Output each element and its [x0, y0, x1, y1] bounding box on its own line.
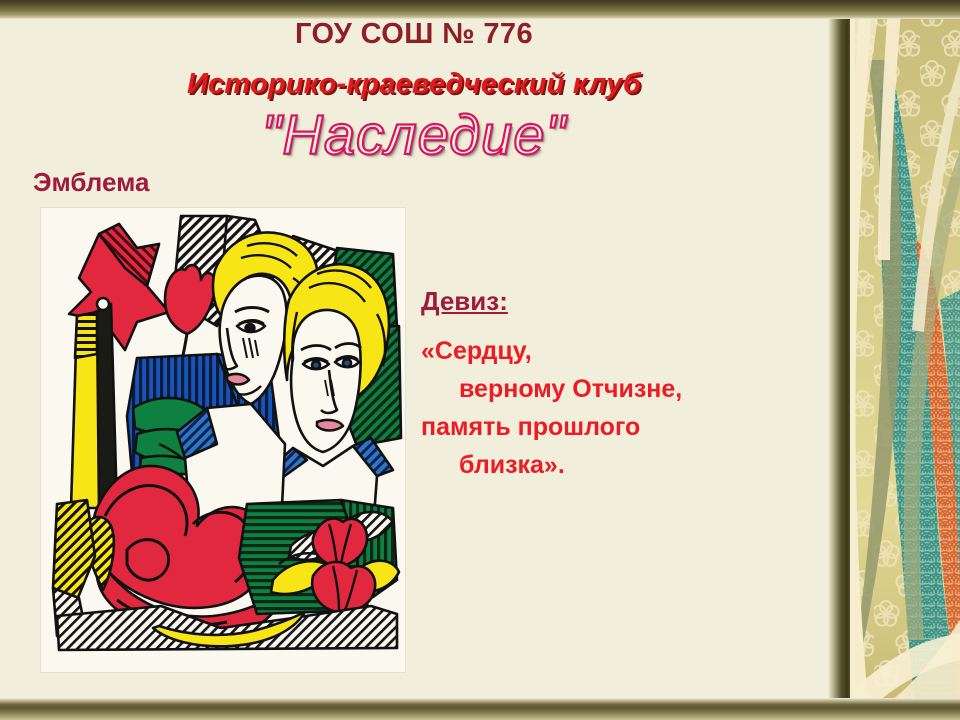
emblem-image [40, 207, 406, 673]
top-border-band [0, 0, 960, 19]
bottom-border-band [0, 698, 960, 720]
page-title-club-name-wrap: "Наследие" [0, 104, 828, 166]
motto-line-2: верному Отчизне, [421, 373, 821, 405]
slide-canvas: ГОУ СОШ № 776 Историко-краеведческий клу… [0, 0, 960, 720]
page-title-school: ГОУ СОШ № 776 [0, 18, 828, 51]
motto-block: Девиз: «Сердцу, верному Отчизне, память … [421, 286, 821, 487]
page-title-club: Историко-краеведческий клуб [0, 68, 828, 101]
motto-line-3: память прошлого [421, 411, 821, 443]
motto-line-4: близка». [421, 449, 821, 481]
motto-heading: Девиз: [421, 286, 821, 317]
decorative-side-panel [828, 0, 960, 720]
motto-line-1: «Сердцу, [421, 335, 821, 367]
page-title-club-name: "Наследие" [262, 104, 567, 166]
emblem-label: Эмблема [33, 167, 149, 198]
